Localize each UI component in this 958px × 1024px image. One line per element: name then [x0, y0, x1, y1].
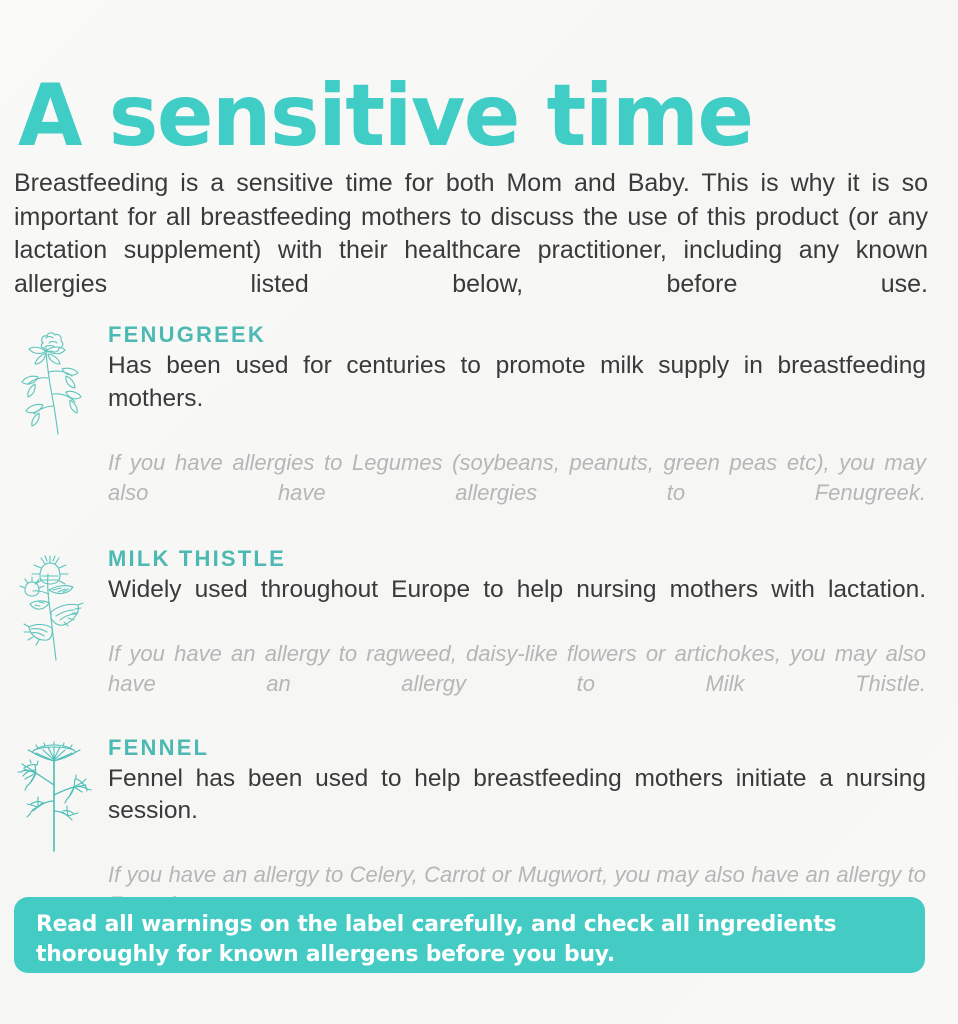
ingredient-name: FENUGREEK — [108, 322, 926, 348]
ingredient-list: FENUGREEK Has been used for centuries to… — [0, 322, 958, 950]
ingredient-description: Has been used for centuries to promote m… — [108, 350, 926, 448]
ingredient-name: FENNEL — [108, 735, 926, 761]
ingredient-item-fenugreek: FENUGREEK Has been used for centuries to… — [0, 322, 958, 538]
ingredient-allergy-note: If you have an allergy to ragweed, daisy… — [108, 639, 926, 729]
milk-thistle-plant-icon — [16, 550, 92, 666]
ingredient-description: Fennel has been used to help breastfeedi… — [108, 763, 926, 861]
intro-paragraph: Breastfeeding is a sensitive time for bo… — [14, 167, 928, 335]
ingredient-allergy-note: If you have allergies to Legumes (soybea… — [108, 448, 926, 538]
fenugreek-plant-icon — [16, 326, 92, 442]
page-title: A sensitive time — [18, 68, 910, 164]
ingredient-item-milk-thistle: MILK THISTLE Widely used throughout Euro… — [0, 546, 958, 729]
infographic-page: A sensitive time Breastfeeding is a sens… — [0, 0, 958, 1024]
warning-banner: Read all warnings on the label carefully… — [14, 897, 925, 973]
ingredient-description: Widely used throughout Europe to help nu… — [108, 574, 926, 639]
fennel-plant-icon — [16, 739, 92, 855]
ingredient-name: MILK THISTLE — [108, 546, 926, 572]
warning-banner-text: Read all warnings on the label carefully… — [36, 909, 877, 969]
